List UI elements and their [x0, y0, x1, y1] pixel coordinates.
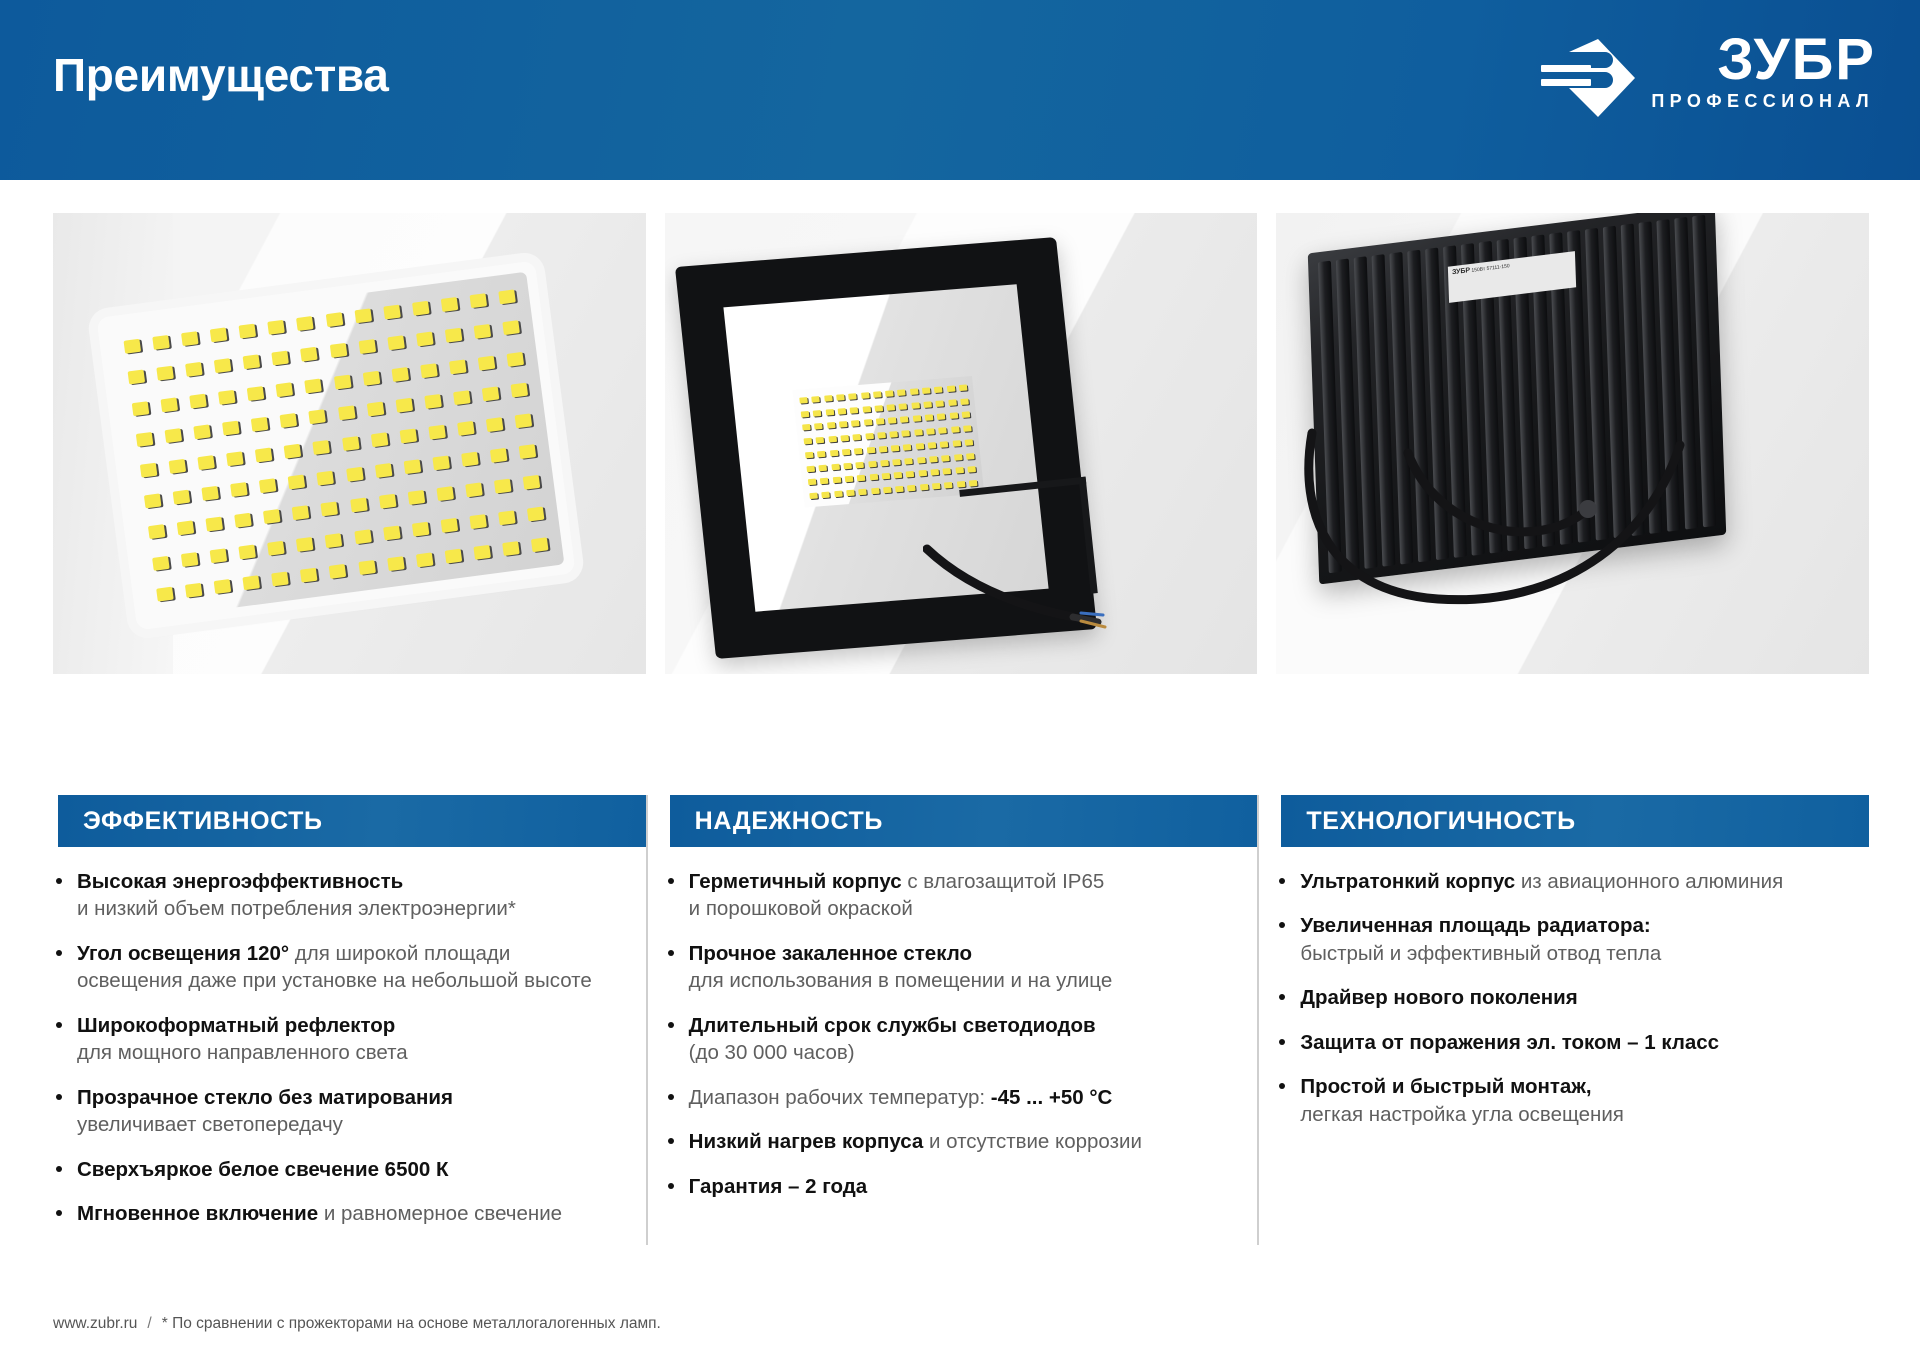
led-chip	[317, 471, 335, 486]
led-chip	[924, 415, 933, 422]
led-chip	[189, 393, 207, 408]
led-chip	[832, 477, 841, 484]
led-chip	[210, 328, 228, 343]
led-chip	[143, 494, 161, 509]
led-chip	[863, 419, 872, 426]
led-chip	[834, 491, 843, 498]
led-chip	[478, 355, 496, 370]
feature-item: Угол освещения 120° для широкой площадио…	[53, 940, 646, 995]
feature-item: Драйвер нового поколения	[1276, 984, 1869, 1011]
led-chip	[825, 409, 834, 416]
led-chip	[958, 384, 967, 391]
led-chip	[852, 434, 861, 441]
led-chip	[900, 417, 909, 424]
led-chip	[814, 423, 823, 430]
led-chip	[354, 308, 372, 323]
led-chip	[404, 459, 422, 474]
led-chip	[850, 407, 859, 414]
led-chip	[387, 556, 405, 571]
led-chip	[523, 475, 541, 490]
feature-item-strong: Мгновенное включение	[77, 1202, 318, 1225]
led-chip	[503, 320, 521, 335]
led-chip	[486, 417, 504, 432]
led-chip	[268, 320, 286, 335]
led-chip	[904, 458, 913, 465]
feature-item-strong: Широкоформатный рефлектор	[77, 1014, 395, 1037]
led-chip	[940, 441, 949, 448]
led-chip	[408, 490, 426, 505]
led-chip	[243, 355, 261, 370]
led-chip	[865, 433, 874, 440]
led-chip	[470, 293, 488, 308]
led-chip	[387, 336, 405, 351]
led-chip	[801, 411, 810, 418]
led-chip	[325, 312, 343, 327]
led-chip	[222, 420, 240, 435]
led-chip	[284, 444, 302, 459]
led-chip	[842, 449, 851, 456]
led-chip	[334, 374, 352, 389]
led-chip	[881, 473, 890, 480]
feature-item: Диапазон рабочих температур: -45 ... +50…	[665, 1084, 1258, 1111]
led-chip	[868, 460, 877, 467]
feature-item-strong: Увеличенная площадь радиатора:	[1300, 914, 1650, 937]
led-chip	[858, 489, 867, 496]
led-chip	[519, 444, 537, 459]
column-header-reliability: НАДЕЖНОСТЬ	[665, 795, 1258, 847]
led-chip	[926, 428, 935, 435]
led-chip	[267, 540, 285, 555]
led-chip	[880, 459, 889, 466]
led-chip	[809, 493, 818, 500]
feature-item-rest: с влагозащитой IP65	[902, 870, 1105, 893]
feature-item-strong: Защита от поражения эл. током – 1 класс	[1300, 1031, 1719, 1054]
led-chip	[272, 351, 290, 366]
led-chip	[918, 470, 927, 477]
led-chip	[883, 487, 892, 494]
u-bracket	[1288, 423, 1708, 613]
led-panel	[96, 261, 575, 631]
led-chip	[909, 388, 918, 395]
led-chip	[395, 398, 413, 413]
feature-item: Длительный срок службы светодиодов(до 30…	[665, 1012, 1258, 1067]
led-chip	[922, 387, 931, 394]
led-chip	[238, 544, 256, 559]
led-chip	[288, 475, 306, 490]
led-chip	[820, 478, 829, 485]
feature-item: Широкоформатный рефлектордля мощного нап…	[53, 1012, 646, 1067]
feature-item: Увеличенная площадь радиатора:быстрый и …	[1276, 912, 1869, 967]
led-chip	[127, 370, 145, 385]
led-chip	[844, 476, 853, 483]
led-chip	[860, 392, 869, 399]
led-chip	[878, 446, 887, 453]
led-chip	[869, 474, 878, 481]
led-chip	[816, 437, 825, 444]
feature-item-sub: и порошковой окраской	[689, 895, 1258, 922]
led-chip	[934, 386, 943, 393]
page-title: Преимущества	[53, 48, 389, 102]
feature-item-strong: Простой и быстрый монтаж,	[1300, 1075, 1591, 1098]
led-chip	[139, 463, 157, 478]
led-chip	[375, 463, 393, 478]
feature-item-strong: Длительный срок службы светодиодов	[689, 1014, 1096, 1037]
led-chip	[895, 486, 904, 493]
led-chip	[821, 492, 830, 499]
led-chip	[929, 456, 938, 463]
led-chip	[873, 391, 882, 398]
feature-item-sub: (до 30 000 часов)	[689, 1039, 1258, 1066]
feature-item: Прозрачное стекло без матированияувеличи…	[53, 1084, 646, 1139]
led-chip	[917, 457, 926, 464]
feature-columns: ЭФФЕКТИВНОСТЬ Высокая энергоэффективност…	[53, 795, 1869, 1245]
led-chip	[428, 425, 446, 440]
led-chip	[846, 490, 855, 497]
photo-rear-radiator: ЗУБР 150Вт 57111-150	[1276, 213, 1869, 674]
feature-item: Прочное закаленное стеклодля использован…	[665, 940, 1258, 995]
led-chip	[935, 400, 944, 407]
led-chip	[482, 386, 500, 401]
feature-item: Сверхъяркое белое свечение 6500 К	[53, 1156, 646, 1183]
led-chip	[811, 396, 820, 403]
column-reliability: НАДЕЖНОСТЬ Герметичный корпус с влагозащ…	[665, 795, 1258, 1245]
led-chip	[805, 452, 814, 459]
feature-item: Герметичный корпус с влагозащитой IP65и …	[665, 868, 1258, 923]
led-chip	[234, 513, 252, 528]
led-chip	[436, 487, 454, 502]
led-chip	[301, 347, 319, 362]
label-brand: ЗУБР	[1452, 267, 1470, 276]
led-chip	[855, 461, 864, 468]
feature-item-sub: увеличивает светопередачу	[77, 1111, 646, 1138]
led-chip	[963, 425, 972, 432]
led-chip	[329, 564, 347, 579]
led-chip	[511, 382, 529, 397]
label-code: 57111-150	[1487, 263, 1510, 272]
led-chip	[391, 367, 409, 382]
led-chip	[952, 440, 961, 447]
label-power-unit: Вт	[1480, 266, 1486, 273]
led-chip	[906, 471, 915, 478]
led-chip	[949, 413, 958, 420]
feature-item-sub: быстрый и эффективный отвод тепла	[1300, 940, 1869, 967]
led-chip	[457, 421, 475, 436]
led-chip	[205, 517, 223, 532]
led-chip	[383, 525, 401, 540]
led-chip	[840, 435, 849, 442]
led-chip	[325, 533, 343, 548]
led-chip	[346, 467, 364, 482]
led-chip	[836, 394, 845, 401]
led-chip	[399, 428, 417, 443]
led-chip	[160, 397, 178, 412]
led-chip	[168, 459, 186, 474]
led-chip	[877, 432, 886, 439]
footnote-text: * По сравнении с прожекторами на основе …	[162, 1315, 661, 1333]
led-chip	[837, 408, 846, 415]
brand-logo: ЗУБР ПРОФЕССИОНАЛ	[1541, 33, 1876, 117]
led-chip	[893, 472, 902, 479]
led-chip	[156, 587, 174, 602]
led-chip	[185, 583, 203, 598]
led-chip	[515, 413, 533, 428]
led-chip	[379, 494, 397, 509]
led-chip	[445, 549, 463, 564]
led-chip	[829, 450, 838, 457]
led-chip	[946, 385, 955, 392]
feature-item: Низкий нагрев корпуса и отсутствие корро…	[665, 1128, 1258, 1155]
footer-separator: /	[147, 1315, 151, 1333]
led-chip	[911, 402, 920, 409]
column-separator	[1257, 795, 1259, 1245]
led-chip	[366, 401, 384, 416]
led-chip	[420, 363, 438, 378]
led-chip	[276, 382, 294, 397]
feature-list-technology: Ультратонкий корпус из авиационного алюм…	[1276, 847, 1869, 1128]
feature-item-sub: для мощного направленного света	[77, 1039, 646, 1066]
led-chip	[296, 537, 314, 552]
led-chip	[923, 401, 932, 408]
led-chip	[255, 448, 273, 463]
led-chip	[424, 394, 442, 409]
led-chip	[799, 397, 808, 404]
feature-item-strong: Прочное закаленное стекло	[689, 942, 972, 965]
led-chip	[164, 428, 182, 443]
led-chip	[961, 412, 970, 419]
diamond-shape-icon	[1561, 39, 1635, 117]
column-separator	[646, 795, 648, 1245]
led-chip	[239, 324, 257, 339]
led-chip	[502, 541, 520, 556]
led-chip	[912, 416, 921, 423]
led-chip	[897, 389, 906, 396]
led-chip	[857, 475, 866, 482]
led-chip	[938, 427, 947, 434]
led-chip	[494, 479, 512, 494]
feature-item-strong: Ультратонкий корпус	[1300, 870, 1515, 893]
led-chip	[213, 579, 231, 594]
led-chip	[907, 485, 916, 492]
feature-item: Защита от поражения эл. током – 1 класс	[1276, 1029, 1869, 1056]
led-chip	[453, 390, 471, 405]
led-chip	[948, 399, 957, 406]
led-chip	[831, 463, 840, 470]
led-chip	[263, 509, 281, 524]
led-chip	[152, 556, 170, 571]
led-chip	[932, 483, 941, 490]
led-chip	[499, 289, 517, 304]
led-chip	[927, 442, 936, 449]
led-chip	[412, 301, 430, 316]
led-chip	[416, 332, 434, 347]
column-efficiency: ЭФФЕКТИВНОСТЬ Высокая энергоэффективност…	[53, 795, 646, 1245]
led-chip	[280, 413, 298, 428]
led-chip	[862, 406, 871, 413]
led-chip	[490, 448, 508, 463]
led-chip	[201, 486, 219, 501]
led-chip	[817, 451, 826, 458]
led-chip	[148, 525, 166, 540]
led-chip	[967, 466, 976, 473]
photo-led-board-closeup	[53, 213, 646, 674]
led-chip	[362, 370, 380, 385]
feature-item-rest: и отсутствие коррозии	[923, 1130, 1142, 1153]
feature-item-strong: Драйвер нового поколения	[1300, 986, 1577, 1009]
led-chip	[889, 431, 898, 438]
led-chip	[371, 432, 389, 447]
led-chip	[247, 386, 265, 401]
power-cable	[923, 543, 1113, 633]
led-chip	[808, 479, 817, 486]
column-technology: ТЕХНОЛОГИЧНОСТЬ Ультратонкий корпус из а…	[1276, 795, 1869, 1245]
logo-tagline: ПРОФЕССИОНАЛ	[1651, 91, 1874, 112]
column-title: НАДЕЖНОСТЬ	[695, 807, 883, 836]
led-chip	[474, 324, 492, 339]
column-title: ТЕХНОЛОГИЧНОСТЬ	[1306, 807, 1575, 836]
feature-item-rest: из авиационного алюминия	[1515, 870, 1783, 893]
led-chip	[441, 297, 459, 312]
led-chip	[469, 514, 487, 529]
feature-item-strong: Высокая энергоэффективность	[77, 870, 403, 893]
led-chip	[350, 498, 368, 513]
led-chip	[507, 351, 525, 366]
led-chip	[313, 440, 331, 455]
page-footer: www.zubr.ru / * По сравнении с прожектор…	[53, 1315, 661, 1333]
led-chip	[960, 398, 969, 405]
led-chip	[892, 459, 901, 466]
led-chip	[449, 359, 467, 374]
led-chip	[321, 502, 339, 517]
led-chip	[875, 418, 884, 425]
feature-item-strong-tail: -45 ... +50 °C	[991, 1086, 1113, 1109]
led-chip	[465, 483, 483, 498]
led-chip	[259, 478, 277, 493]
led-chip	[338, 405, 356, 420]
led-chip	[358, 560, 376, 575]
led-chip	[329, 343, 347, 358]
led-chip	[181, 331, 199, 346]
led-grid-small	[792, 376, 984, 507]
led-chip	[824, 395, 833, 402]
led-chip	[123, 339, 141, 354]
led-chip	[914, 429, 923, 436]
led-chip	[930, 469, 939, 476]
led-chip	[358, 339, 376, 354]
led-chip	[803, 438, 812, 445]
led-chip	[944, 482, 953, 489]
led-chip	[226, 451, 244, 466]
led-chip	[271, 571, 289, 586]
led-chip	[870, 488, 879, 495]
led-chip	[955, 467, 964, 474]
led-chip	[309, 409, 327, 424]
led-chip	[300, 568, 318, 583]
feature-item-strong: Гарантия – 2 года	[689, 1175, 867, 1198]
led-chip	[950, 426, 959, 433]
website-url[interactable]: www.zubr.ru	[53, 1315, 137, 1333]
led-grid	[117, 281, 556, 611]
led-chip	[848, 393, 857, 400]
led-chip	[445, 328, 463, 343]
led-chip	[956, 481, 965, 488]
led-chip	[209, 548, 227, 563]
led-chip	[193, 424, 211, 439]
led-chip	[903, 444, 912, 451]
feature-item-strong: Прозрачное стекло без матирования	[77, 1086, 453, 1109]
led-chip	[527, 506, 545, 521]
feature-item: Мгновенное включение и равномерное свече…	[53, 1200, 646, 1227]
led-chip	[474, 545, 492, 560]
feature-item: Ультратонкий корпус из авиационного алюм…	[1276, 868, 1869, 895]
led-chip	[197, 455, 215, 470]
page-header: Преимущества ЗУБР ПРОФЕССИОНАЛ	[0, 0, 1920, 180]
photo-front-view	[665, 213, 1258, 674]
led-chip	[383, 305, 401, 320]
led-chip	[214, 358, 232, 373]
led-chip	[966, 453, 975, 460]
led-chip	[354, 529, 372, 544]
column-title: ЭФФЕКТИВНОСТЬ	[83, 807, 323, 836]
led-chip	[886, 404, 895, 411]
feature-list-reliability: Герметичный корпус с влагозащитой IP65и …	[665, 847, 1258, 1200]
feature-item-strong: Низкий нагрев корпуса	[689, 1130, 924, 1153]
led-chip	[292, 506, 310, 521]
led-chip	[839, 421, 848, 428]
led-chip	[843, 462, 852, 469]
feature-item-rest: для широкой площади	[289, 942, 510, 965]
led-chip	[172, 490, 190, 505]
led-chip	[412, 521, 430, 536]
feature-item: Высокая энергоэффективностьи низкий объе…	[53, 868, 646, 923]
zubr-diamond-icon	[1541, 39, 1637, 117]
led-chip	[156, 366, 174, 381]
led-chip	[461, 452, 479, 467]
led-chip	[152, 335, 170, 350]
led-chip	[432, 456, 450, 471]
led-chip	[176, 521, 194, 536]
feature-item: Простой и быстрый монтаж,легкая настройк…	[1276, 1073, 1869, 1128]
led-chip	[305, 378, 323, 393]
feature-item-sub: для использования в помещении и на улице	[689, 967, 1258, 994]
led-chip	[802, 424, 811, 431]
led-chip	[885, 390, 894, 397]
led-chip	[813, 410, 822, 417]
led-chip	[230, 482, 248, 497]
led-chip	[915, 443, 924, 450]
led-chip	[851, 420, 860, 427]
led-chip	[185, 362, 203, 377]
led-chip	[806, 465, 815, 472]
led-chip	[899, 403, 908, 410]
led-chip	[937, 414, 946, 421]
led-chip	[135, 432, 153, 447]
led-chip	[416, 552, 434, 567]
feature-item-sub: легкая настройка угла освещения	[1300, 1101, 1869, 1128]
led-chip	[828, 436, 837, 443]
led-chip	[441, 518, 459, 533]
led-chip	[498, 510, 516, 525]
feature-item-rest: и равномерное свечение	[318, 1202, 562, 1225]
led-chip	[181, 552, 199, 567]
feature-item: Гарантия – 2 года	[665, 1173, 1258, 1200]
led-chip	[941, 455, 950, 462]
led-chip	[854, 448, 863, 455]
feature-item-strong: Герметичный корпус	[689, 870, 902, 893]
led-chip	[953, 454, 962, 461]
led-chip	[242, 575, 260, 590]
feature-list-efficiency: Высокая энергоэффективностьи низкий объе…	[53, 847, 646, 1228]
led-chip	[251, 417, 269, 432]
